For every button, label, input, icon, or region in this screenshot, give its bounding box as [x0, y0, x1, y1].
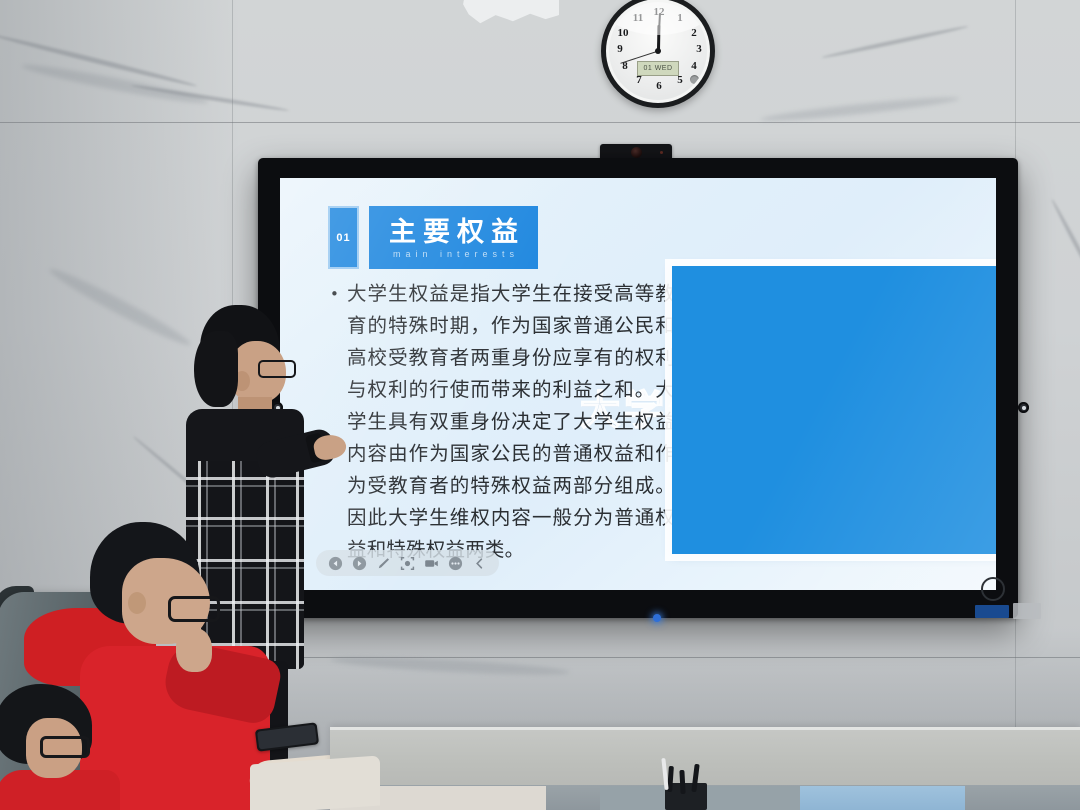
slide-title-block: 主要权益 main interests	[369, 206, 538, 269]
table-edge-highlight	[330, 727, 1080, 730]
display-screen[interactable]: 大学生的权益 01 主要权益 main interests • 大学生权益是指大…	[280, 178, 996, 590]
bezel-sensor-right-icon[interactable]	[1018, 402, 1029, 413]
slide-body-paragraph: 大学生权益是指大学生在接受高等教育的特殊时期，作为国家普通公民和高校受教育者两重…	[330, 278, 675, 566]
laptop-on-table	[250, 755, 380, 810]
student-hand	[176, 628, 212, 672]
slide-title-en: main interests	[388, 248, 519, 260]
clock-numeral: 5	[673, 75, 687, 86]
presenter-glasses	[258, 360, 296, 378]
table-panel-right	[800, 786, 965, 810]
student-glasses	[168, 596, 220, 622]
clock-date-window: 01 WED	[637, 61, 679, 76]
previous-slide-icon[interactable]	[328, 556, 343, 571]
brand-badge	[975, 605, 1009, 618]
more-icon[interactable]	[448, 556, 463, 571]
presenter-hair-back	[194, 331, 238, 407]
clock-knob	[690, 75, 699, 84]
collapse-icon[interactable]	[472, 556, 487, 571]
slide-body-text: • 大学生权益是指大学生在接受高等教育的特殊时期，作为国家普通公民和高校受教育者…	[330, 278, 675, 566]
bullet-marker: •	[330, 278, 339, 310]
camera-led	[660, 151, 663, 154]
interactive-display[interactable]: 大学生的权益 01 主要权益 main interests • 大学生权益是指大…	[258, 158, 1018, 618]
camera-lens-icon	[631, 147, 642, 158]
classroom-photo-scene: 12 1 2 3 4 5 6 7 8 9 10 11 01 WED	[0, 0, 1080, 810]
slide-header: 01 主要权益 main interests	[328, 206, 538, 269]
slide-section-number: 01	[336, 232, 350, 244]
student-ear	[128, 592, 146, 614]
student2-glasses	[40, 736, 90, 758]
slide-image-placeholder	[672, 266, 996, 554]
screen-corner-marker-icon	[981, 577, 1005, 601]
presentation-slide[interactable]: 大学生的权益 01 主要权益 main interests • 大学生权益是指大…	[280, 178, 996, 590]
screen-record-icon[interactable]	[424, 556, 439, 571]
clock-numeral: 9	[613, 44, 627, 55]
slide-section-number-box: 01	[328, 206, 359, 269]
focus-icon[interactable]	[400, 556, 415, 571]
slide-title-cn: 主要权益	[382, 217, 525, 247]
next-slide-icon[interactable]	[352, 556, 367, 571]
pen-icon[interactable]	[376, 556, 391, 571]
clock-pivot	[655, 48, 661, 54]
clock-numeral: 4	[687, 61, 701, 72]
spec-label	[1013, 603, 1041, 619]
clock-face: 12 1 2 3 4 5 6 7 8 9 10 11 01 WED	[609, 2, 707, 100]
student-seated-second-row	[0, 684, 116, 810]
clock-numeral: 7	[632, 75, 646, 86]
clock-numeral: 6	[652, 81, 666, 92]
power-led-indicator	[653, 614, 661, 622]
slide-toolbar[interactable]	[316, 550, 499, 576]
display-bezel-inner: 大学生的权益 01 主要权益 main interests • 大学生权益是指大…	[280, 178, 996, 590]
clock-numeral: 3	[692, 44, 706, 55]
